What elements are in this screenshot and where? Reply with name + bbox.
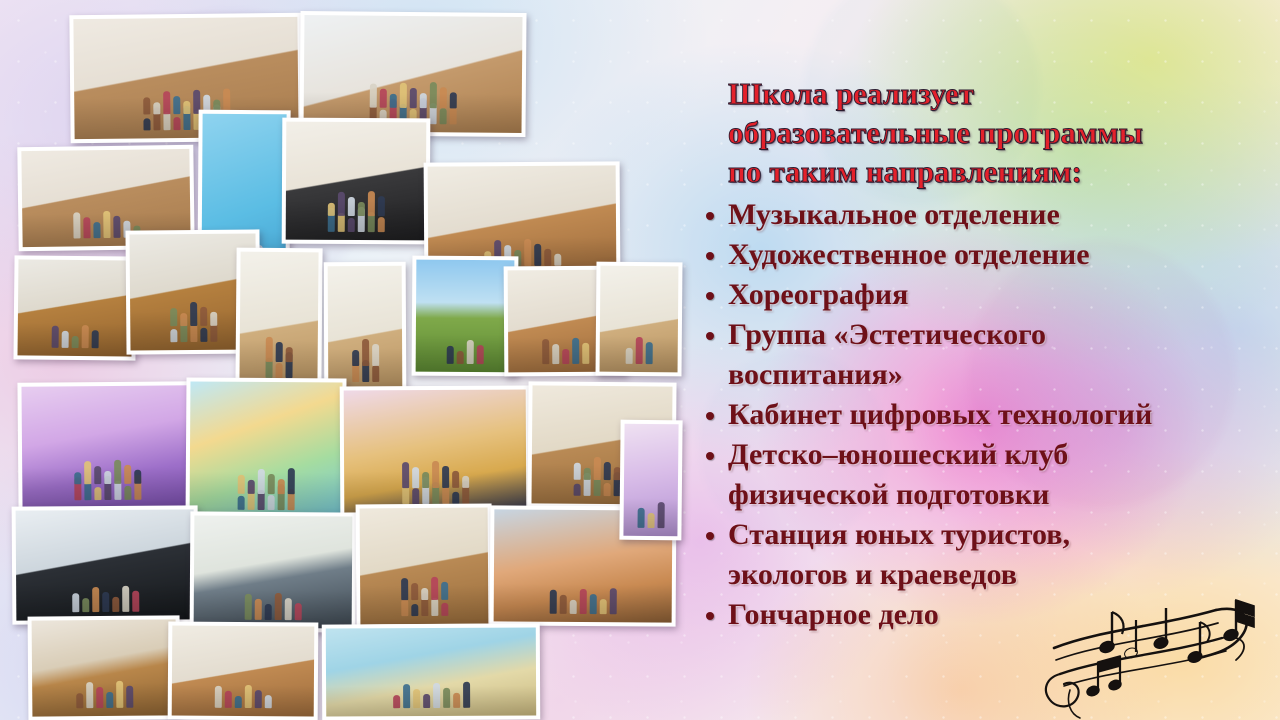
bullet-dot-icon <box>706 252 714 260</box>
program-item[interactable]: Художественное отделение <box>700 235 1280 275</box>
program-item-label: Художественное отделение <box>728 238 1090 271</box>
title-line: Школа реализует <box>700 74 1280 113</box>
collage-photo <box>168 621 319 720</box>
program-item-continuation[interactable]: воспитания» <box>700 355 1280 395</box>
guitar-lesson-class <box>303 15 522 133</box>
collage-photo <box>185 377 346 522</box>
bullet-dot-icon <box>706 452 714 460</box>
gym-demonstration <box>623 424 678 537</box>
program-item-label: воспитания» <box>728 358 903 391</box>
pupil-with-easel <box>328 266 403 390</box>
title-line: образовательные программы <box>700 113 1280 152</box>
collage-photo <box>356 504 493 629</box>
program-item[interactable]: Станция юных туристов, <box>700 515 1280 555</box>
program-item-label: экологов и краеведов <box>728 558 1017 591</box>
collage-photo <box>324 262 407 394</box>
nature-tourism-trip <box>416 260 515 373</box>
collage-photo <box>190 511 357 632</box>
robotics-competition <box>16 509 195 620</box>
program-item-label: физической подготовки <box>728 478 1049 511</box>
program-item-continuation[interactable]: физической подготовки <box>700 475 1280 515</box>
bullet-dot-icon <box>706 332 714 340</box>
title-line: по таким направлениям: <box>700 152 1280 191</box>
photo-collage <box>0 0 700 720</box>
bullet-dot-icon <box>706 212 714 220</box>
page-title: Школа реализуетобразовательные программы… <box>700 74 1280 191</box>
rhythmic-gymnastics <box>190 381 343 518</box>
digital-cabinet-lesson <box>194 515 353 628</box>
slide-canvas: Школа реализуетобразовательные программы… <box>0 0 1280 720</box>
bullet-dot-icon <box>706 292 714 300</box>
collage-photo <box>322 623 540 720</box>
collage-photo <box>13 255 136 360</box>
program-item[interactable]: Хореография <box>700 275 1280 315</box>
teacher-at-flipchart <box>600 266 679 373</box>
collage-photo <box>340 386 531 517</box>
program-item-label: Хореография <box>728 278 908 311</box>
program-item-label: Группа «Эстетического <box>728 318 1046 351</box>
bullet-dot-icon <box>706 612 714 620</box>
program-item[interactable]: Гончарное дело <box>700 595 1280 635</box>
table-game-pupils <box>172 626 315 717</box>
program-item-continuation[interactable]: экологов и краеведов <box>700 555 1280 595</box>
ballet-on-stage <box>21 385 192 508</box>
collage-photo <box>235 248 322 391</box>
collage-photo <box>412 256 519 377</box>
program-item-label: Кабинет цифровых технологий <box>728 398 1152 431</box>
collage-photo <box>12 505 199 624</box>
collage-photo <box>282 118 431 245</box>
sports-hall-lineup <box>326 627 536 716</box>
collage-photo <box>28 615 181 720</box>
program-list: Музыкальное отделениеХудожественное отде… <box>700 195 1280 635</box>
bullet-dot-icon <box>706 412 714 420</box>
national-costume-group <box>344 390 527 513</box>
program-item-label: Станция юных туристов, <box>728 518 1070 551</box>
needlework-workshop <box>18 259 133 356</box>
program-item-label: Детско–юношеский клуб <box>728 438 1068 471</box>
program-item[interactable]: Детско–юношеский клуб <box>700 435 1280 475</box>
content-column: Школа реализуетобразовательные программы… <box>700 74 1280 635</box>
bullet-dot-icon <box>706 532 714 540</box>
collage-photo <box>17 381 196 513</box>
collage-photo <box>619 420 682 541</box>
piano-performance <box>286 122 427 241</box>
program-item-label: Гончарное дело <box>728 598 939 631</box>
program-item[interactable]: Группа «Эстетического <box>700 315 1280 355</box>
program-item[interactable]: Музыкальное отделение <box>700 195 1280 235</box>
rope-climbing-indoor <box>360 508 489 625</box>
collage-photo <box>596 262 683 377</box>
chess-tournament <box>32 619 177 716</box>
program-item[interactable]: Кабинет цифровых технологий <box>700 395 1280 435</box>
program-item-label: Музыкальное отделение <box>728 198 1060 231</box>
painting-on-glass <box>239 252 318 387</box>
